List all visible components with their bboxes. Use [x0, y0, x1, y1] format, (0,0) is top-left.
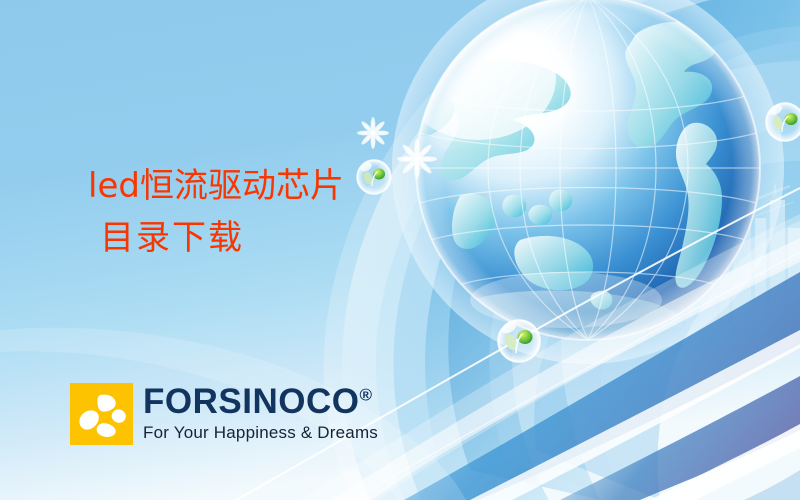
logo-wordmark-text: FORSINOCO: [143, 382, 359, 421]
headline-line-2: 目录下载: [100, 218, 344, 258]
forsinoco-pinwheel-mark: [70, 383, 133, 445]
flower-sparkle-lower: [397, 139, 437, 179]
bubble-right-edge: [766, 103, 800, 141]
registered-trademark-icon: ®: [359, 385, 372, 404]
flower-sparkle-upper: [357, 117, 389, 149]
logo-wordmark: FORSINOCO®: [143, 384, 378, 420]
logo-text-block: FORSINOCO® For Your Happiness & Dreams: [143, 384, 378, 442]
brand-logo: FORSINOCO® For Your Happiness & Dreams: [70, 383, 378, 445]
logo-tagline: For Your Happiness & Dreams: [143, 423, 378, 442]
bubble-left-of-globe: [357, 160, 391, 194]
pinwheel-petals: [79, 395, 125, 437]
headline-line-1: led恒流驱动芯片: [88, 166, 344, 206]
bubble-lower-center: [498, 320, 540, 362]
promo-banner: led恒流驱动芯片 目录下载 FORSINOCO® For Your Happi…: [0, 0, 800, 500]
headline: led恒流驱动芯片 目录下载: [88, 166, 344, 258]
